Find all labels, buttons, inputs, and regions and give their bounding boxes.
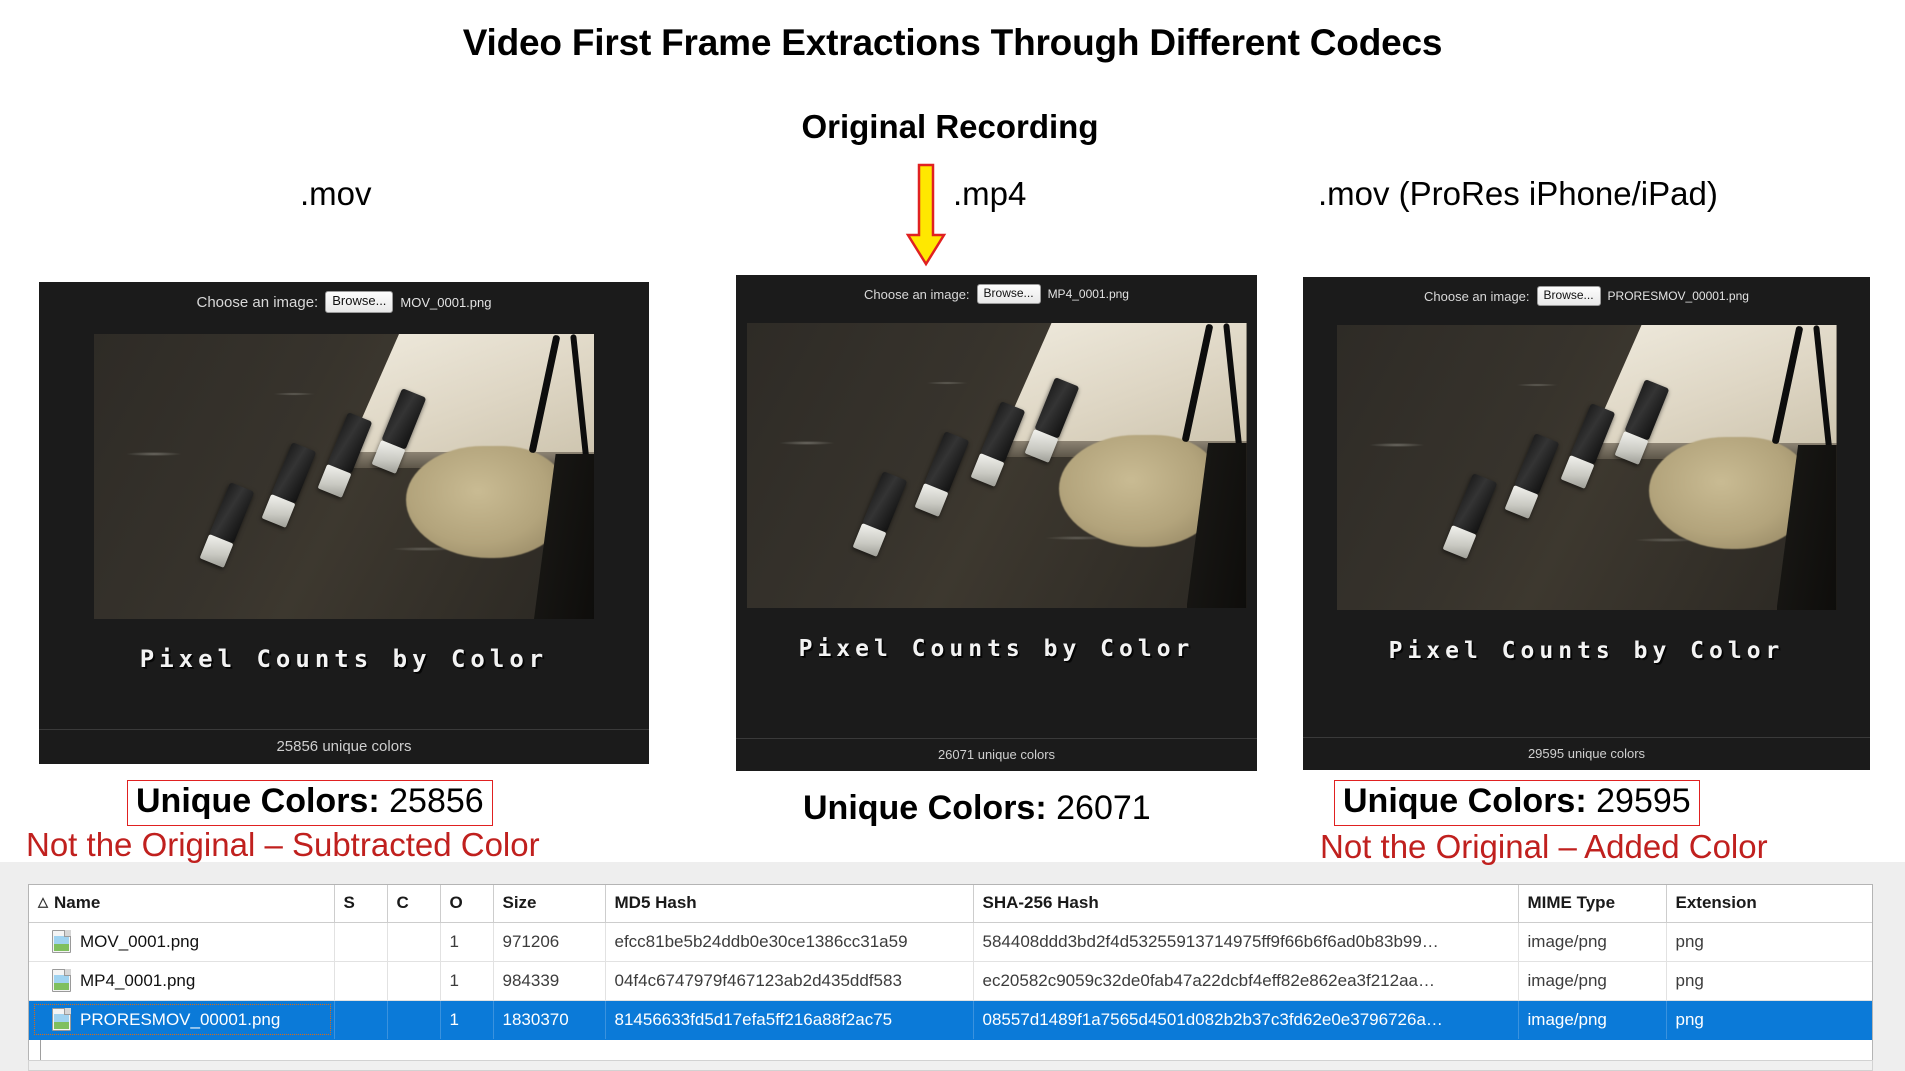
pixel-counts-heading: Pixel Counts by Color xyxy=(1303,638,1870,664)
pixel-counts-heading: Pixel Counts by Color xyxy=(39,645,649,673)
callout-value: 25856 xyxy=(389,782,484,820)
cell-c xyxy=(387,962,440,1001)
column-header-s[interactable]: S xyxy=(334,885,387,923)
annotation-added-color: Not the Original – Added Color xyxy=(1320,828,1768,866)
cell-extension: png xyxy=(1666,962,1872,1001)
unique-colors-strip: 26071 unique colors xyxy=(736,741,1257,771)
cell-md5: 04f4c6747979f467123ab2d435ddf583 xyxy=(605,962,973,1001)
image-chooser-bar: Choose an image: Browse... MP4_0001.png xyxy=(736,275,1257,313)
cell-c xyxy=(387,923,440,962)
column-caption-mov: .mov xyxy=(300,175,372,213)
unique-colors-strip: 29595 unique colors xyxy=(1303,740,1870,770)
column-header-name[interactable]: △Name xyxy=(29,885,334,923)
cell-s xyxy=(334,923,387,962)
chooser-label: Choose an image: xyxy=(864,287,970,302)
cell-sha256: 08557d1489f1a7565d4501d082b2b37c3fd62e0e… xyxy=(973,1001,1518,1040)
unique-colors-callout-mov: Unique Colors: 25856 xyxy=(127,780,493,826)
chooser-label: Choose an image: xyxy=(196,294,318,311)
unique-colors-callout-prores: Unique Colors: 29595 xyxy=(1334,780,1700,826)
cell-size: 1830370 xyxy=(493,1001,605,1040)
cell-s xyxy=(334,1001,387,1040)
table-row-selected[interactable]: PRORESMOV_00001.png 1 1830370 81456633fd… xyxy=(29,1001,1872,1040)
column-header-c[interactable]: C xyxy=(387,885,440,923)
column-header-md5[interactable]: MD5 Hash xyxy=(605,885,973,923)
image-file-icon xyxy=(52,1008,71,1031)
chosen-file-name: MOV_0001.png xyxy=(400,295,491,310)
callout-label: Unique Colors: xyxy=(136,782,380,820)
column-header-sha256[interactable]: SHA-256 Hash xyxy=(973,885,1518,923)
column-header-o[interactable]: O xyxy=(440,885,493,923)
cell-extension: png xyxy=(1666,923,1872,962)
browse-button[interactable]: Browse... xyxy=(325,291,393,312)
unique-colors-callout-mp4: Unique Colors: 26071 xyxy=(795,788,1159,832)
column-header-size[interactable]: Size xyxy=(493,885,605,923)
extracted-frame-image xyxy=(94,334,594,619)
horizontal-scrollbar[interactable] xyxy=(28,1060,1873,1071)
table-row[interactable]: MP4_0001.png 1 984339 04f4c6747979f46712… xyxy=(29,962,1872,1001)
image-chooser-bar: Choose an image: Browse... MOV_0001.png xyxy=(39,282,649,322)
cell-o: 1 xyxy=(440,923,493,962)
pixel-counts-heading: Pixel Counts by Color xyxy=(736,636,1257,662)
cell-c xyxy=(387,1001,440,1040)
extracted-frame-image xyxy=(1337,325,1837,610)
cell-sha256: ec20582c9059c32de0fab47a22dcbf4eff82e862… xyxy=(973,962,1518,1001)
chosen-file-name: PRORESMOV_00001.png xyxy=(1608,289,1749,303)
cell-name[interactable]: MP4_0001.png xyxy=(29,962,334,1001)
cell-sha256: 584408ddd3bd2f4d53255913714975ff9f66b6f6… xyxy=(973,923,1518,962)
cell-mime: image/png xyxy=(1518,1001,1666,1040)
cell-name[interactable]: MOV_0001.png xyxy=(29,923,334,962)
screenshot-panel-prores: Choose an image: Browse... PRORESMOV_000… xyxy=(1303,277,1870,770)
cell-size: 971206 xyxy=(493,923,605,962)
image-chooser-bar: Choose an image: Browse... PRORESMOV_000… xyxy=(1303,277,1870,315)
down-arrow-icon xyxy=(905,163,947,268)
page-title: Video First Frame Extractions Through Di… xyxy=(0,22,1905,64)
screenshot-panel-mov: Choose an image: Browse... MOV_0001.png … xyxy=(39,282,649,764)
callout-label: Unique Colors: xyxy=(803,789,1047,827)
cell-md5: efcc81be5b24ddb0e30ce1386cc31a59 xyxy=(605,923,973,962)
chosen-file-name: MP4_0001.png xyxy=(1048,287,1129,301)
cell-o: 1 xyxy=(440,1001,493,1040)
callout-value: 26071 xyxy=(1056,789,1151,827)
browse-button[interactable]: Browse... xyxy=(977,284,1041,304)
cell-size: 984339 xyxy=(493,962,605,1001)
column-caption-prores: .mov (ProRes iPhone/iPad) xyxy=(1318,175,1718,213)
unique-colors-strip: 25856 unique colors xyxy=(39,732,649,764)
cell-name[interactable]: PRORESMOV_00001.png xyxy=(29,1001,334,1040)
browse-button[interactable]: Browse... xyxy=(1537,286,1601,306)
column-header-mime[interactable]: MIME Type xyxy=(1518,885,1666,923)
callout-label: Unique Colors: xyxy=(1343,782,1587,820)
column-header-extension[interactable]: Extension xyxy=(1666,885,1872,923)
cell-mime: image/png xyxy=(1518,962,1666,1001)
callout-value: 29595 xyxy=(1596,782,1691,820)
cell-s xyxy=(334,962,387,1001)
section-title: Original Recording xyxy=(400,108,1500,146)
annotation-subtracted-color: Not the Original – Subtracted Color xyxy=(26,826,540,864)
cell-extension: png xyxy=(1666,1001,1872,1040)
sort-ascending-icon[interactable]: △ xyxy=(38,894,48,910)
screenshot-panel-mp4: Choose an image: Browse... MP4_0001.png … xyxy=(736,275,1257,771)
table-header-row: △Name S C O Size MD5 Hash SHA-256 Hash M… xyxy=(29,885,1872,923)
image-file-icon xyxy=(52,930,71,953)
cell-mime: image/png xyxy=(1518,923,1666,962)
column-caption-mp4: .mp4 xyxy=(953,175,1026,213)
cell-o: 1 xyxy=(440,962,493,1001)
file-list-table[interactable]: △Name S C O Size MD5 Hash SHA-256 Hash M… xyxy=(28,884,1873,1071)
image-file-icon xyxy=(52,969,71,992)
cell-md5: 81456633fd5d17efa5ff216a88f2ac75 xyxy=(605,1001,973,1040)
table-row[interactable]: MOV_0001.png 1 971206 efcc81be5b24ddb0e3… xyxy=(29,923,1872,962)
extracted-frame-image xyxy=(747,323,1247,608)
chooser-label: Choose an image: xyxy=(1424,289,1530,304)
